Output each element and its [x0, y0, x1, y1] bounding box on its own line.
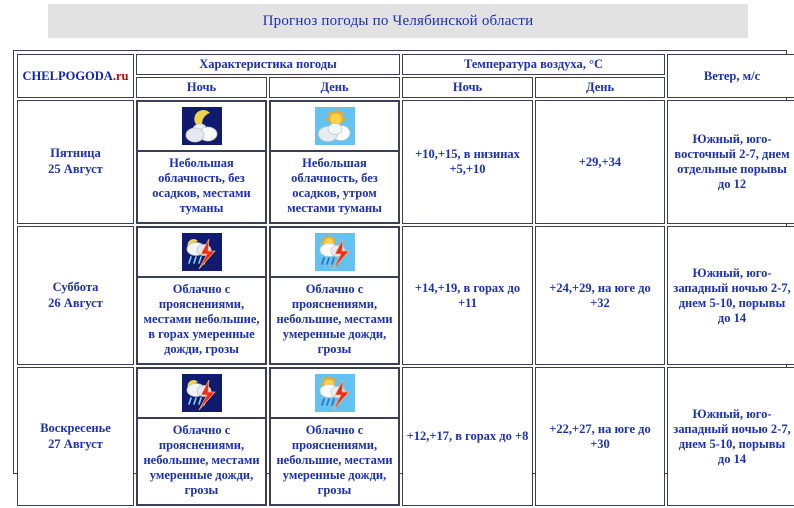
- weather-night-cell: Небольшая облачность, без осадков, места…: [136, 100, 267, 224]
- night-description: Облачно с прояснениями, небольшие, места…: [137, 418, 266, 505]
- header-weather-group: Характеристика погоды: [136, 54, 400, 75]
- day-name: Суббота: [21, 280, 130, 296]
- moon-clouds-icon: [182, 107, 222, 145]
- wind-description: Южный, юго-западный ночью 2-7, днем 5-10…: [667, 226, 794, 365]
- night-description: Облачно с прояснениями, местами небольши…: [137, 277, 266, 364]
- brand-suffix: .ru: [113, 69, 129, 83]
- day-description: Облачно с прояснениями, небольшие, места…: [270, 277, 399, 364]
- day-date: 26 Август: [21, 296, 130, 312]
- forecast-table-container: CHELPOGODA.ru Характеристика погоды Темп…: [13, 50, 787, 474]
- day-icon-holder: [270, 227, 399, 277]
- day-name: Пятница: [21, 146, 130, 162]
- night-temperature: +10,+15, в низинах +5,+10: [402, 100, 533, 224]
- page-title-banner: Прогноз погоды по Челябинской области: [48, 4, 748, 38]
- wind-description: Южный, юго-восточный 2-7, днем отдельные…: [667, 100, 794, 224]
- table-body: Пятница 25 Август: [17, 100, 794, 506]
- weather-day-cell: Облачно с прояснениями, небольшие, места…: [269, 226, 400, 365]
- day-cell: Суббота 26 Август: [17, 226, 134, 365]
- header-temperature-group: Температура воздуха, °C: [402, 54, 665, 75]
- table-row: Воскресенье 27 Август: [17, 367, 794, 506]
- night-icon-holder: [137, 227, 266, 277]
- day-description: Небольшая облачность, без осадков, утром…: [270, 151, 399, 223]
- day-date: 25 Август: [21, 162, 130, 178]
- sun-storm-icon: [315, 374, 355, 412]
- day-icon-holder: [270, 368, 399, 418]
- weather-night-cell: Облачно с прояснениями, небольшие, места…: [136, 367, 267, 506]
- header-weather-day: День: [269, 77, 400, 98]
- day-temperature: +29,+34: [535, 100, 665, 224]
- moon-storm-icon: [182, 233, 222, 271]
- day-temperature: +22,+27, на юге до +30: [535, 367, 665, 506]
- forecast-table: CHELPOGODA.ru Характеристика погоды Темп…: [15, 52, 794, 508]
- header-wind: Ветер, м/с: [667, 54, 794, 98]
- header-temp-day: День: [535, 77, 665, 98]
- day-icon-holder: [270, 101, 399, 151]
- weather-day-cell: Небольшая облачность, без осадков, утром…: [269, 100, 400, 224]
- wind-description: Южный, юго-западный ночью 2-7, днем 5-10…: [667, 367, 794, 506]
- page-title: Прогноз погоды по Челябинской области: [263, 13, 534, 30]
- night-description: Небольшая облачность, без осадков, места…: [137, 151, 266, 223]
- brand-cell: CHELPOGODA.ru: [17, 54, 134, 98]
- sun-clouds-icon: [315, 107, 355, 145]
- moon-storm-icon: [182, 374, 222, 412]
- table-header: CHELPOGODA.ru Характеристика погоды Темп…: [17, 54, 794, 98]
- day-date: 27 Август: [21, 437, 130, 453]
- header-weather-night: Ночь: [136, 77, 267, 98]
- weather-day-cell: Облачно с прояснениями, небольшие, места…: [269, 367, 400, 506]
- night-icon-holder: [137, 368, 266, 418]
- header-temp-night: Ночь: [402, 77, 533, 98]
- weather-night-cell: Облачно с прояснениями, местами небольши…: [136, 226, 267, 365]
- table-row: Пятница 25 Август: [17, 100, 794, 224]
- day-temperature: +24,+29, на юге до +32: [535, 226, 665, 365]
- day-cell: Пятница 25 Август: [17, 100, 134, 224]
- night-temperature: +14,+19, в горах до +11: [402, 226, 533, 365]
- table-row: Суббота 26 Август: [17, 226, 794, 365]
- sun-storm-icon: [315, 233, 355, 271]
- header-row-top: CHELPOGODA.ru Характеристика погоды Темп…: [17, 54, 794, 75]
- day-name: Воскресенье: [21, 421, 130, 437]
- day-cell: Воскресенье 27 Август: [17, 367, 134, 506]
- brand-name: CHELPOGODA: [23, 69, 113, 83]
- night-temperature: +12,+17, в горах до +8: [402, 367, 533, 506]
- weather-forecast-page: Прогноз погоды по Челябинской области CH…: [0, 0, 794, 482]
- night-icon-holder: [137, 101, 266, 151]
- day-description: Облачно с прояснениями, небольшие, места…: [270, 418, 399, 505]
